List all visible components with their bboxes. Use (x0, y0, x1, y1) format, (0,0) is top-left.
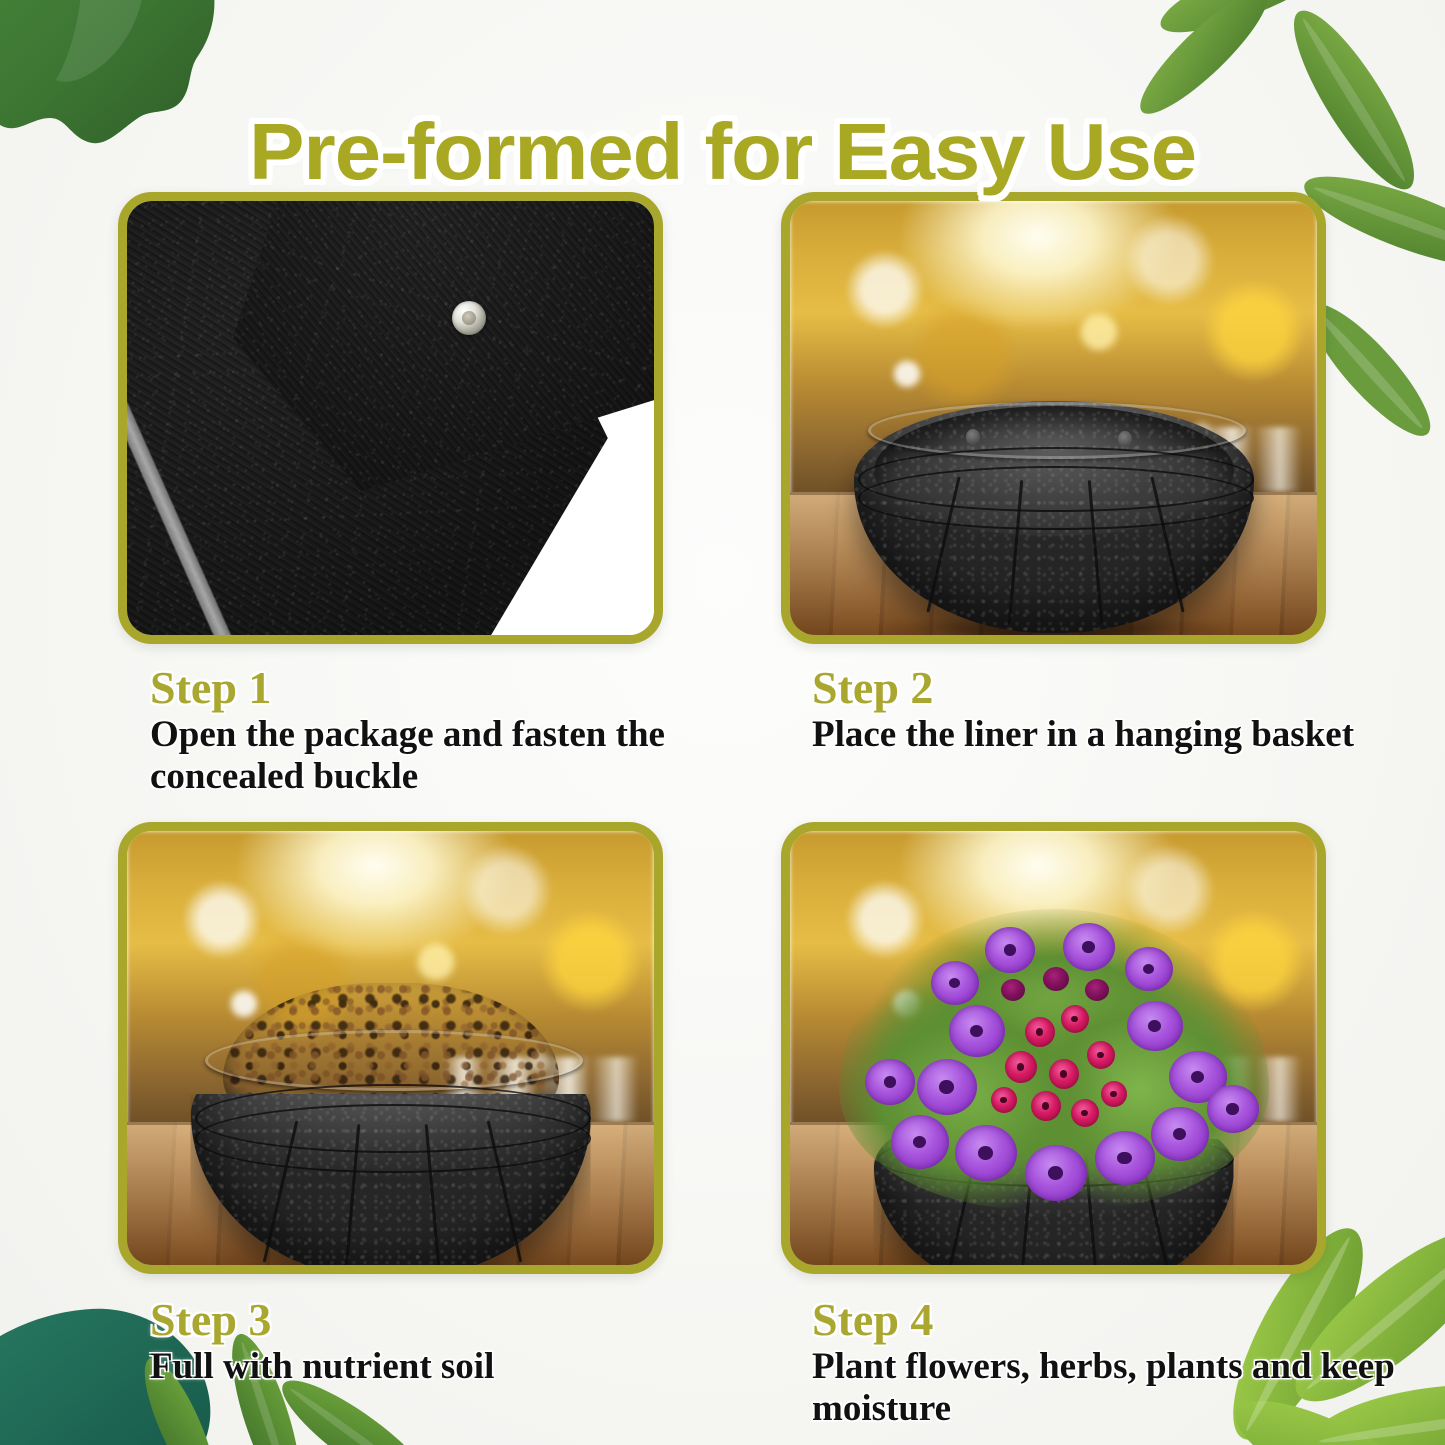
step-4-description: Plant flowers, herbs, plants and keep mo… (812, 1346, 1412, 1429)
basket-with-purple-petunias-image (790, 831, 1317, 1265)
step-4-caption: Step 4 Plant flowers, herbs, plants and … (812, 1296, 1412, 1429)
step-1-description: Open the package and fasten the conceale… (150, 714, 710, 797)
step-4-image-frame (781, 822, 1326, 1274)
step-2-label: Step 2 (812, 664, 1412, 712)
felt-liner-snap-buckle-closeup-image (127, 201, 654, 635)
step-1-label: Step 1 (150, 664, 710, 712)
step-3-card (118, 822, 663, 1274)
step-4-card (781, 822, 1326, 1274)
step-2-description: Place the liner in a hanging basket (812, 714, 1412, 755)
snap-button-icon (452, 301, 486, 335)
step-4-label: Step 4 (812, 1296, 1412, 1344)
petunia-flower-mound (839, 909, 1269, 1209)
step-1-card (118, 192, 663, 644)
step-1-caption: Step 1 Open the package and fasten the c… (150, 664, 710, 797)
liner-in-wire-basket-image (790, 201, 1317, 635)
step-3-label: Step 3 (150, 1296, 710, 1344)
step-3-description: Full with nutrient soil (150, 1346, 710, 1387)
step-2-card (781, 192, 1326, 644)
basket-filled-with-soil-image (127, 831, 654, 1265)
step-2-image-frame (781, 192, 1326, 644)
infographic-canvas: Pre-formed for Easy Use (0, 0, 1445, 1445)
step-1-image-frame (118, 192, 663, 644)
step-2-caption: Step 2 Place the liner in a hanging bask… (812, 664, 1412, 756)
step-3-image-frame (118, 822, 663, 1274)
wire-basket-with-liner (854, 401, 1254, 633)
wire-basket-with-soil (191, 1029, 591, 1265)
page-title: Pre-formed for Easy Use (0, 106, 1445, 198)
step-3-caption: Step 3 Full with nutrient soil (150, 1296, 710, 1388)
